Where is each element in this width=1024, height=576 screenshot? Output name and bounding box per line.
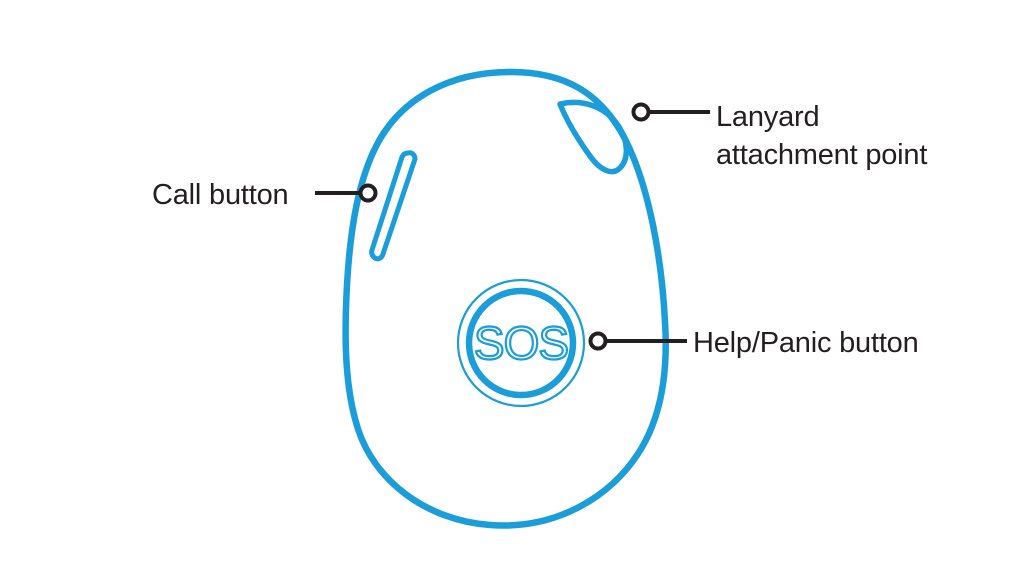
callout-label-call-button: Call button — [152, 176, 288, 214]
call-button-shape — [372, 153, 415, 259]
callout-marker-help-panic — [591, 334, 606, 349]
device-illustration: SOS — [0, 0, 1024, 576]
callout-label-help-panic-button: Help/Panic button — [693, 324, 919, 362]
device-callout-diagram: SOS Call button Lanyardattachment point … — [0, 0, 1024, 576]
lanyard-attachment-hole — [560, 102, 626, 171]
callout-marker-call-button — [361, 186, 376, 201]
callout-label-line-2: attachment point — [716, 139, 927, 171]
callout-label-line-1: Lanyard — [716, 101, 819, 133]
callout-marker-lanyard — [634, 105, 649, 120]
device-body-outline — [346, 72, 666, 526]
sos-button-label: SOS — [474, 317, 568, 369]
callout-label-lanyard-attachment-point: Lanyardattachment point — [716, 98, 927, 174]
